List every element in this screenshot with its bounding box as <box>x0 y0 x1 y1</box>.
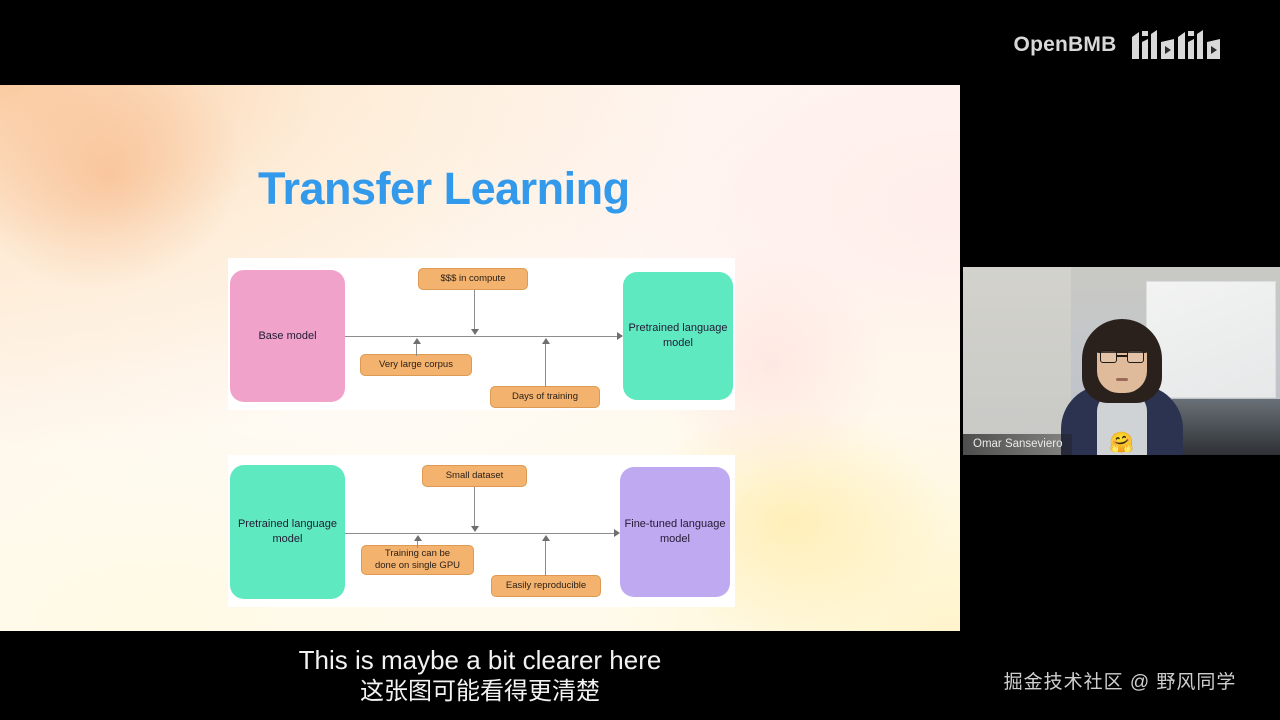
connector-main <box>345 533 618 534</box>
connector-compute-cost <box>474 290 475 330</box>
node-label: Fine-tuned language model <box>624 517 726 547</box>
channel-name: OpenBMB <box>1014 33 1117 57</box>
arrow-head-compute-cost <box>471 329 479 335</box>
node-label: Pretrained language model <box>627 321 729 351</box>
bilibili-logo-icon <box>1130 28 1226 62</box>
chip-dataset: Small dataset <box>422 465 527 487</box>
webcam-desk <box>1172 399 1280 455</box>
arrow-head-reproducible <box>542 535 550 541</box>
chip-label: Days of training <box>512 391 578 403</box>
slide-title: Transfer Learning <box>258 163 630 215</box>
chip-corpus: Very large corpus <box>360 354 472 376</box>
arrow-head-corpus <box>413 338 421 344</box>
node-finetuned-language-model: Fine-tuned language model <box>620 467 730 597</box>
node-label: Pretrained language model <box>234 517 341 547</box>
arrow-head-dataset <box>471 526 479 532</box>
node-base-model: Base model <box>230 270 345 402</box>
connector-dataset <box>474 487 475 527</box>
chip-reproducible: Easily reproducible <box>491 575 601 597</box>
arrow-head-to-target <box>617 332 623 340</box>
chip-label: Small dataset <box>446 470 504 482</box>
subtitle-chinese: 这张图可能看得更清楚 <box>360 677 600 707</box>
video-player-frame: OpenBMB <box>0 0 1280 720</box>
connector-main <box>345 336 621 337</box>
subtitle-english: This is maybe a bit clearer here <box>299 644 662 676</box>
chip-label: $$$ in compute <box>441 273 506 285</box>
chip-label: Very large corpus <box>379 359 453 371</box>
chip-label: Training can be done on single GPU <box>375 548 460 572</box>
node-pretrained-language-model: Pretrained language model <box>623 272 733 400</box>
arrow-head-training-time <box>542 338 550 344</box>
connector-training-time <box>545 343 546 387</box>
presenter-webcam[interactable]: 🤗 Omar Sanseviero <box>963 267 1280 455</box>
chip-compute-cost: $$$ in compute <box>418 268 528 290</box>
presentation-slide: Transfer Learning Base model Pretrained … <box>0 85 960 631</box>
node-label: Base model <box>258 329 316 344</box>
channel-branding: OpenBMB <box>960 0 1280 90</box>
diagram-finetuning: Pretrained language model Fine-tuned lan… <box>228 455 735 607</box>
shirt-emoji-icon: 🤗 <box>1109 433 1134 453</box>
watermark-text: 掘金技术社区 @ 野风同学 <box>960 660 1280 700</box>
presenter-mouth <box>1116 378 1128 381</box>
subtitle-bar: This is maybe a bit clearer here 这张图可能看得… <box>0 631 960 720</box>
chip-training-time: Days of training <box>490 386 600 408</box>
chip-label: Easily reproducible <box>506 580 586 592</box>
connector-single-gpu <box>417 540 418 548</box>
presenter-hair-top <box>1093 323 1151 353</box>
chip-single-gpu: Training can be done on single GPU <box>361 545 474 575</box>
diagram-pretraining: Base model Pretrained language model $$$… <box>228 258 735 410</box>
node-pretrained-language-model-2: Pretrained language model <box>230 465 345 599</box>
presenter-figure: 🤗 <box>1061 315 1183 455</box>
arrow-head-to-target <box>614 529 620 537</box>
presenter-glasses-icon <box>1100 350 1144 363</box>
arrow-head-single-gpu <box>414 535 422 541</box>
participant-name-label: Omar Sanseviero <box>963 434 1072 455</box>
webcam-background-wall <box>963 267 1071 455</box>
connector-reproducible <box>545 540 546 576</box>
connector-corpus <box>416 343 417 356</box>
